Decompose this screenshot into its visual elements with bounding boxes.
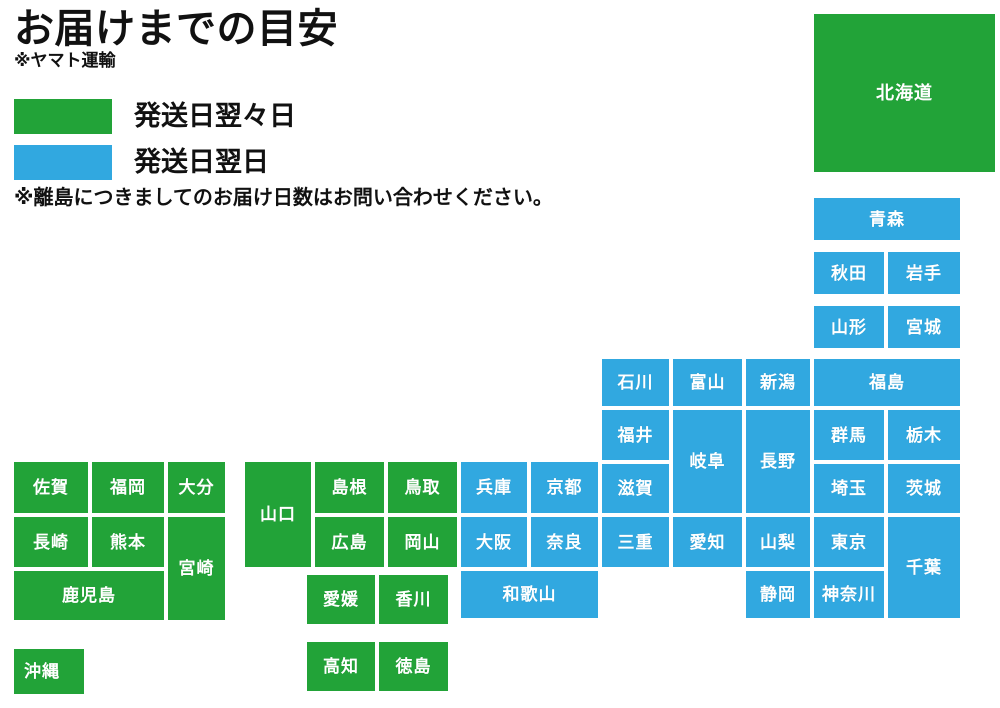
prefecture-tile[interactable]: 長崎 xyxy=(12,515,90,569)
prefecture-tile[interactable]: 茨城 xyxy=(886,462,962,515)
prefecture-tile[interactable]: 静岡 xyxy=(744,569,812,620)
prefecture-tile[interactable]: 神奈川 xyxy=(812,569,886,620)
prefecture-tile[interactable]: 新潟 xyxy=(744,357,812,408)
prefecture-tile[interactable]: 岐阜 xyxy=(671,408,744,515)
prefecture-tile[interactable]: 愛知 xyxy=(671,515,744,569)
prefecture-tile[interactable]: 滋賀 xyxy=(600,462,671,515)
prefecture-tile[interactable]: 北海道 xyxy=(812,12,997,174)
prefecture-tile[interactable]: 島根 xyxy=(313,460,386,515)
prefecture-tile[interactable]: 岩手 xyxy=(886,250,962,296)
prefecture-tile[interactable]: 山形 xyxy=(812,304,886,350)
delivery-estimate-map-page: お届けまでの目安 ※ヤマト運輸 発送日翌々日発送日翌日 ※離島につきましてのお届… xyxy=(0,0,1000,708)
prefecture-tile[interactable]: 徳島 xyxy=(377,640,450,693)
prefecture-tile[interactable]: 三重 xyxy=(600,515,671,569)
prefecture-tile[interactable]: 福井 xyxy=(600,408,671,462)
prefecture-tile[interactable]: 和歌山 xyxy=(459,569,600,620)
prefecture-tile[interactable]: 熊本 xyxy=(90,515,166,569)
japan-prefecture-map: 北海道青森秋田岩手山形宮城石川富山新潟福島福井岐阜長野群馬栃木滋賀埼玉茨城三重愛… xyxy=(0,0,1000,708)
prefecture-tile[interactable]: 岡山 xyxy=(386,515,459,569)
prefecture-tile[interactable]: 石川 xyxy=(600,357,671,408)
prefecture-tile[interactable]: 奈良 xyxy=(529,515,600,569)
prefecture-tile[interactable]: 福岡 xyxy=(90,460,166,515)
prefecture-tile[interactable]: 福島 xyxy=(812,357,962,408)
prefecture-tile[interactable]: 兵庫 xyxy=(459,460,529,515)
prefecture-tile[interactable]: 広島 xyxy=(313,515,386,569)
prefecture-tile[interactable]: 山口 xyxy=(243,460,313,569)
prefecture-tile[interactable]: 宮崎 xyxy=(166,515,227,622)
prefecture-tile[interactable]: 秋田 xyxy=(812,250,886,296)
prefecture-tile[interactable]: 青森 xyxy=(812,196,962,242)
prefecture-tile[interactable]: 京都 xyxy=(529,460,600,515)
prefecture-tile[interactable]: 鹿児島 xyxy=(12,569,166,622)
prefecture-tile[interactable]: 群馬 xyxy=(812,408,886,462)
prefecture-tile[interactable]: 高知 xyxy=(305,640,377,693)
prefecture-tile[interactable]: 千葉 xyxy=(886,515,962,620)
prefecture-tile[interactable]: 大阪 xyxy=(459,515,529,569)
prefecture-tile[interactable]: 山梨 xyxy=(744,515,812,569)
prefecture-tile[interactable]: 東京 xyxy=(812,515,886,569)
prefecture-tile[interactable]: 愛媛 xyxy=(305,573,377,626)
prefecture-tile[interactable]: 香川 xyxy=(377,573,450,626)
prefecture-tile[interactable]: 富山 xyxy=(671,357,744,408)
prefecture-tile[interactable]: 栃木 xyxy=(886,408,962,462)
prefecture-tile[interactable]: 佐賀 xyxy=(12,460,90,515)
prefecture-tile[interactable]: 宮城 xyxy=(886,304,962,350)
prefecture-tile[interactable]: 埼玉 xyxy=(812,462,886,515)
prefecture-tile[interactable]: 長野 xyxy=(744,408,812,515)
prefecture-tile[interactable]: 鳥取 xyxy=(386,460,459,515)
prefecture-tile[interactable]: 沖縄 xyxy=(12,647,86,696)
prefecture-tile[interactable]: 大分 xyxy=(166,460,227,515)
